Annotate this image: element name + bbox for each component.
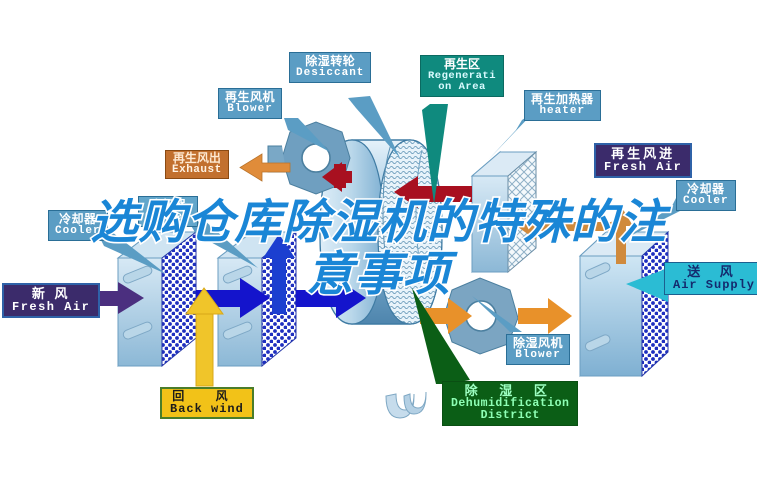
label-regeneration-fresh-air-en: Fresh Air [604,161,682,174]
label-fresh-air-inlet-cn: 新 风 [12,287,90,301]
watermark-text: xt [368,342,379,356]
diagram-canvas [0,0,757,488]
label-cooler-left-2: 冷却器 Cooler [138,196,198,227]
label-back-wind-en: Back wind [170,403,244,416]
label-dehumidification-district: 除 湿 区 Dehumidification District [442,381,578,426]
label-dehumidification-district-en-line2: District [451,410,569,422]
label-regeneration-heater-en: heater [531,106,594,118]
label-fresh-air-inlet: 新 风 Fresh Air [2,283,100,318]
regeneration-heater-unit [472,152,536,272]
label-exhaust-cn: 再生风出 [172,152,222,165]
label-exhaust-en: Exhaust [172,165,222,177]
label-cooler-right: 冷却器 Cooler [676,180,736,211]
label-regeneration-blower: 再生风机 Blower [218,88,282,119]
label-back-wind: 回 风 Back wind [160,387,254,419]
label-air-supply: 送 风 Air Supply [664,262,757,295]
label-cooler-left-2-en: Cooler [145,212,191,224]
blower-out-arrow [518,298,572,334]
label-regeneration-area: 再生区 Regenerati on Area [420,55,504,97]
label-regeneration-area-en-line1: Regenerati [427,71,497,82]
label-exhaust: 再生风出 Exhaust [165,150,229,179]
label-dehumidification-district-cn: 除 湿 区 [451,384,569,398]
label-regeneration-blower-cn: 再生风机 [225,91,275,104]
label-cooler-left-1-en: Cooler [55,226,101,238]
label-dehumidification-blower: 除湿风机 Blower [506,334,570,365]
label-regeneration-heater: 再生加热器 heater [524,90,601,121]
label-cooler-right-en: Cooler [683,196,729,208]
label-desiccant-wheel: 除湿转轮 Desiccant [289,52,371,83]
label-back-wind-cn: 回 风 [170,390,244,403]
label-regeneration-fresh-air: 再生风进 Fresh Air [594,143,692,178]
label-desiccant-wheel-cn: 除湿转轮 [296,55,364,68]
label-dehumidification-district-en-line1: Dehumidification [451,398,569,410]
label-regeneration-fresh-air-cn: 再生风进 [604,147,682,161]
label-dehumidification-blower-cn: 除湿风机 [513,337,563,350]
label-dehumidification-blower-en: Blower [513,350,563,362]
label-regeneration-blower-en: Blower [225,104,275,116]
label-air-supply-en: Air Supply [673,279,755,292]
label-fresh-air-inlet-en: Fresh Air [12,301,90,314]
label-cooler-left-2-cn: 冷却器 [145,199,191,212]
label-regeneration-area-cn: 再生区 [427,58,497,71]
label-desiccant-wheel-en: Desiccant [296,68,364,80]
label-cooler-left-1: 冷却器 Cooler [48,210,108,241]
dehumidifier-schematic-image: xt 除湿转轮 Desiccant 再生风机 Blower 再生区 Regene… [0,0,757,488]
label-regeneration-heater-cn: 再生加热器 [531,93,594,106]
label-cooler-left-1-cn: 冷却器 [55,213,101,226]
label-air-supply-cn: 送 风 [673,265,755,279]
label-regeneration-area-en-line2: on Area [427,82,497,93]
label-cooler-right-cn: 冷却器 [683,183,729,196]
